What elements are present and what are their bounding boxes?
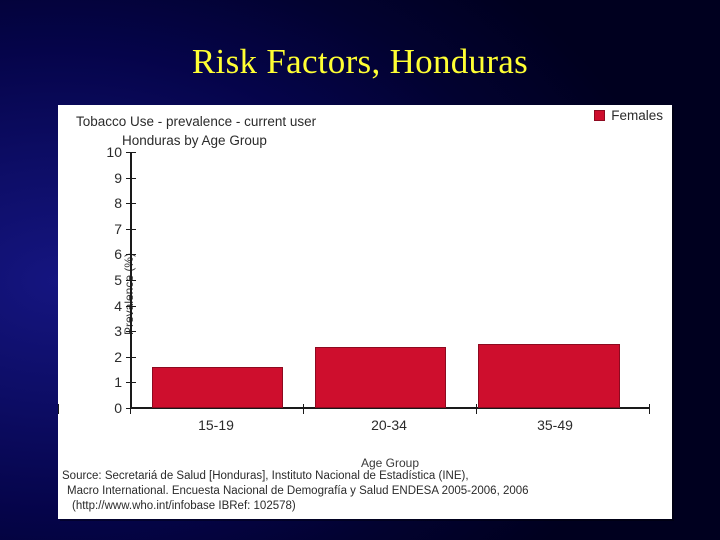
x-axis-tick [58, 404, 59, 414]
bar-35-49[interactable] [478, 344, 620, 408]
y-axis-tick [126, 178, 136, 179]
y-axis-tick-label: 6 [78, 247, 122, 261]
x-axis-tick [476, 404, 477, 414]
plot-area: Prevalence (%) 10 9 8 7 6 5 4 3 2 1 [58, 105, 672, 519]
x-axis-tick [649, 404, 650, 414]
y-axis-tick-label: 5 [78, 273, 122, 287]
x-axis-tick [130, 404, 131, 414]
source-note-line2: Macro International. Encuesta Nacional d… [62, 484, 529, 499]
slide-title: Risk Factors, Honduras [0, 44, 720, 79]
source-note: Source: Secretariá de Salud [Honduras], … [62, 469, 529, 514]
y-axis-title: Prevalence (%) [122, 229, 136, 359]
slide-canvas: Risk Factors, Honduras Tobacco Use - pre… [0, 0, 720, 540]
source-note-line3: (http://www.who.int/infobase IBRef: 1025… [62, 499, 529, 514]
y-axis-tick-label: 9 [78, 171, 122, 185]
y-axis-tick [126, 331, 136, 332]
y-axis-tick [126, 280, 136, 281]
y-axis-tick-label: 10 [78, 145, 122, 159]
x-axis-tick-label-35-49: 35-49 [495, 418, 615, 432]
y-axis-tick-label: 7 [78, 222, 122, 236]
x-axis-tick-label-20-34: 20-34 [329, 418, 449, 432]
x-axis-title: Age Group [130, 456, 650, 470]
chart-image-panel[interactable]: Tobacco Use - prevalence - current user … [58, 105, 672, 519]
y-axis-tick [126, 382, 136, 383]
y-axis-tick [126, 229, 136, 230]
y-axis-tick-label: 8 [78, 196, 122, 210]
y-axis-tick [126, 152, 136, 153]
x-axis-tick-label-15-19: 15-19 [156, 418, 276, 432]
y-axis-tick-label: 1 [78, 375, 122, 389]
y-axis-tick [126, 254, 136, 255]
bar-20-34[interactable] [315, 347, 446, 408]
y-axis-tick-label: 4 [78, 299, 122, 313]
y-axis-tick [126, 306, 136, 307]
bar-15-19[interactable] [152, 367, 283, 408]
y-axis-tick [126, 408, 136, 409]
y-axis-tick-label: 3 [78, 324, 122, 338]
y-axis-tick [126, 357, 136, 358]
y-axis-tick-label: 0 [78, 401, 122, 415]
y-axis-tick-label: 2 [78, 350, 122, 364]
y-axis-tick [126, 203, 136, 204]
source-note-line1: Source: Secretariá de Salud [Honduras], … [62, 470, 469, 482]
x-axis-tick [303, 404, 304, 414]
